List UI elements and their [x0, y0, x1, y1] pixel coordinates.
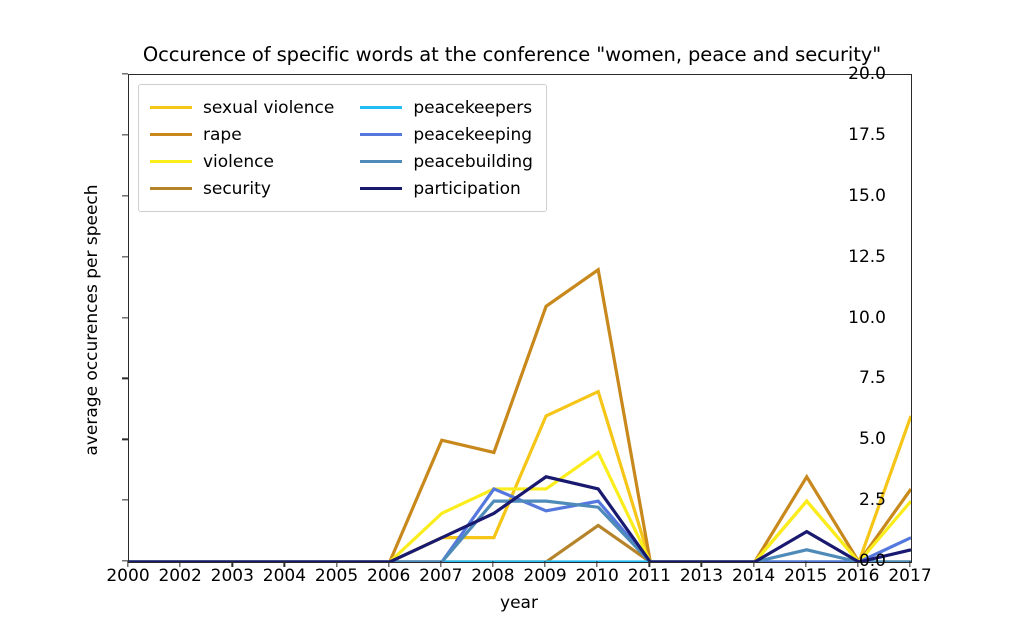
x-tick-mark: [597, 561, 598, 567]
legend-label: peacekeepers: [413, 98, 532, 118]
x-tick-mark: [544, 561, 545, 567]
x-tick-mark: [805, 561, 806, 567]
legend-swatch-icon: [150, 187, 192, 190]
x-tick-label: 2006: [367, 566, 410, 586]
x-tick-label: 2016: [836, 566, 879, 586]
legend-swatch-icon: [360, 160, 402, 163]
legend-entry-participation[interactable]: participation: [360, 175, 533, 202]
x-tick-label: 2007: [419, 566, 462, 586]
x-tick-mark: [388, 561, 389, 567]
x-tick-mark: [179, 561, 180, 567]
legend-column-2: peacekeeperspeacekeepingpeacebuildingpar…: [360, 94, 533, 202]
x-tick-label: 2008: [471, 566, 514, 586]
legend-swatch-icon: [360, 187, 402, 190]
legend-entry-violence[interactable]: violence: [150, 148, 334, 175]
y-tick-mark: [122, 195, 128, 196]
legend-swatch-icon: [150, 133, 192, 136]
legend-label: peacekeeping: [413, 125, 532, 145]
series-line-security: [129, 525, 911, 562]
x-tick-mark: [127, 561, 128, 567]
y-tick-mark: [122, 499, 128, 500]
y-axis-label: average occurences per speech: [82, 110, 102, 530]
x-tick-mark: [857, 561, 858, 567]
x-tick-label: 2003: [211, 566, 254, 586]
series-line-peacebuilding: [129, 501, 911, 562]
x-tick-mark: [284, 561, 285, 567]
chart-title: Occurence of specific words at the confe…: [0, 43, 1024, 66]
x-tick-mark: [232, 561, 233, 567]
y-tick-mark: [122, 134, 128, 135]
y-tick-mark: [122, 256, 128, 257]
y-tick-label: 2.5: [859, 490, 886, 510]
legend-label: peacebuilding: [413, 152, 533, 172]
series-line-sexual-violence: [129, 392, 911, 562]
legend-label: sexual violence: [203, 98, 334, 118]
y-tick-label: 7.5: [859, 368, 886, 388]
legend-swatch-icon: [360, 106, 402, 109]
x-tick-mark: [753, 561, 754, 567]
x-tick-label: 2013: [680, 566, 723, 586]
x-tick-label: 2017: [888, 566, 931, 586]
x-tick-mark: [492, 561, 493, 567]
legend-label: participation: [413, 179, 520, 199]
chart-legend: sexual violencerapeviolencesecuritypeace…: [138, 84, 547, 212]
y-tick-mark: [122, 73, 128, 74]
legend-entry-peacekeepers[interactable]: peacekeepers: [360, 94, 533, 121]
x-tick-label: 2014: [732, 566, 775, 586]
legend-label: violence: [203, 152, 274, 172]
legend-column-1: sexual violencerapeviolencesecurity: [150, 94, 334, 202]
legend-entry-peacekeeping[interactable]: peacekeeping: [360, 121, 533, 148]
x-tick-label: 2009: [523, 566, 566, 586]
y-tick-mark: [122, 317, 128, 318]
y-tick-label: 12.5: [848, 247, 886, 267]
y-tick-label: 5.0: [859, 429, 886, 449]
y-axis: [0, 0, 128, 640]
x-tick-mark: [649, 561, 650, 567]
legend-entry-sexual-violence[interactable]: sexual violence: [150, 94, 334, 121]
y-tick-mark: [122, 439, 128, 440]
x-tick-label: 2005: [315, 566, 358, 586]
legend-swatch-icon: [150, 106, 192, 109]
legend-swatch-icon: [150, 160, 192, 163]
x-tick-label: 2000: [106, 566, 149, 586]
x-tick-mark: [336, 561, 337, 567]
legend-label: rape: [203, 125, 242, 145]
chart-figure: Occurence of specific words at the confe…: [0, 0, 1024, 640]
y-tick-label: 20.0: [848, 64, 886, 84]
x-tick-mark: [701, 561, 702, 567]
y-tick-mark: [122, 378, 128, 379]
x-tick-label: 2015: [784, 566, 827, 586]
x-tick-mark: [909, 561, 910, 567]
y-tick-label: 15.0: [848, 186, 886, 206]
x-tick-label: 2004: [263, 566, 306, 586]
y-tick-label: 17.5: [848, 125, 886, 145]
legend-label: security: [203, 179, 271, 199]
x-tick-label: 2010: [576, 566, 619, 586]
x-axis-label: year: [128, 593, 910, 613]
x-tick-label: 2002: [158, 566, 201, 586]
legend-entry-security[interactable]: security: [150, 175, 334, 202]
series-line-violence: [129, 452, 911, 562]
legend-swatch-icon: [360, 133, 402, 136]
x-tick-mark: [440, 561, 441, 567]
legend-entry-peacebuilding[interactable]: peacebuilding: [360, 148, 533, 175]
legend-entry-rape[interactable]: rape: [150, 121, 334, 148]
x-tick-label: 2011: [628, 566, 671, 586]
y-tick-label: 10.0: [848, 308, 886, 328]
